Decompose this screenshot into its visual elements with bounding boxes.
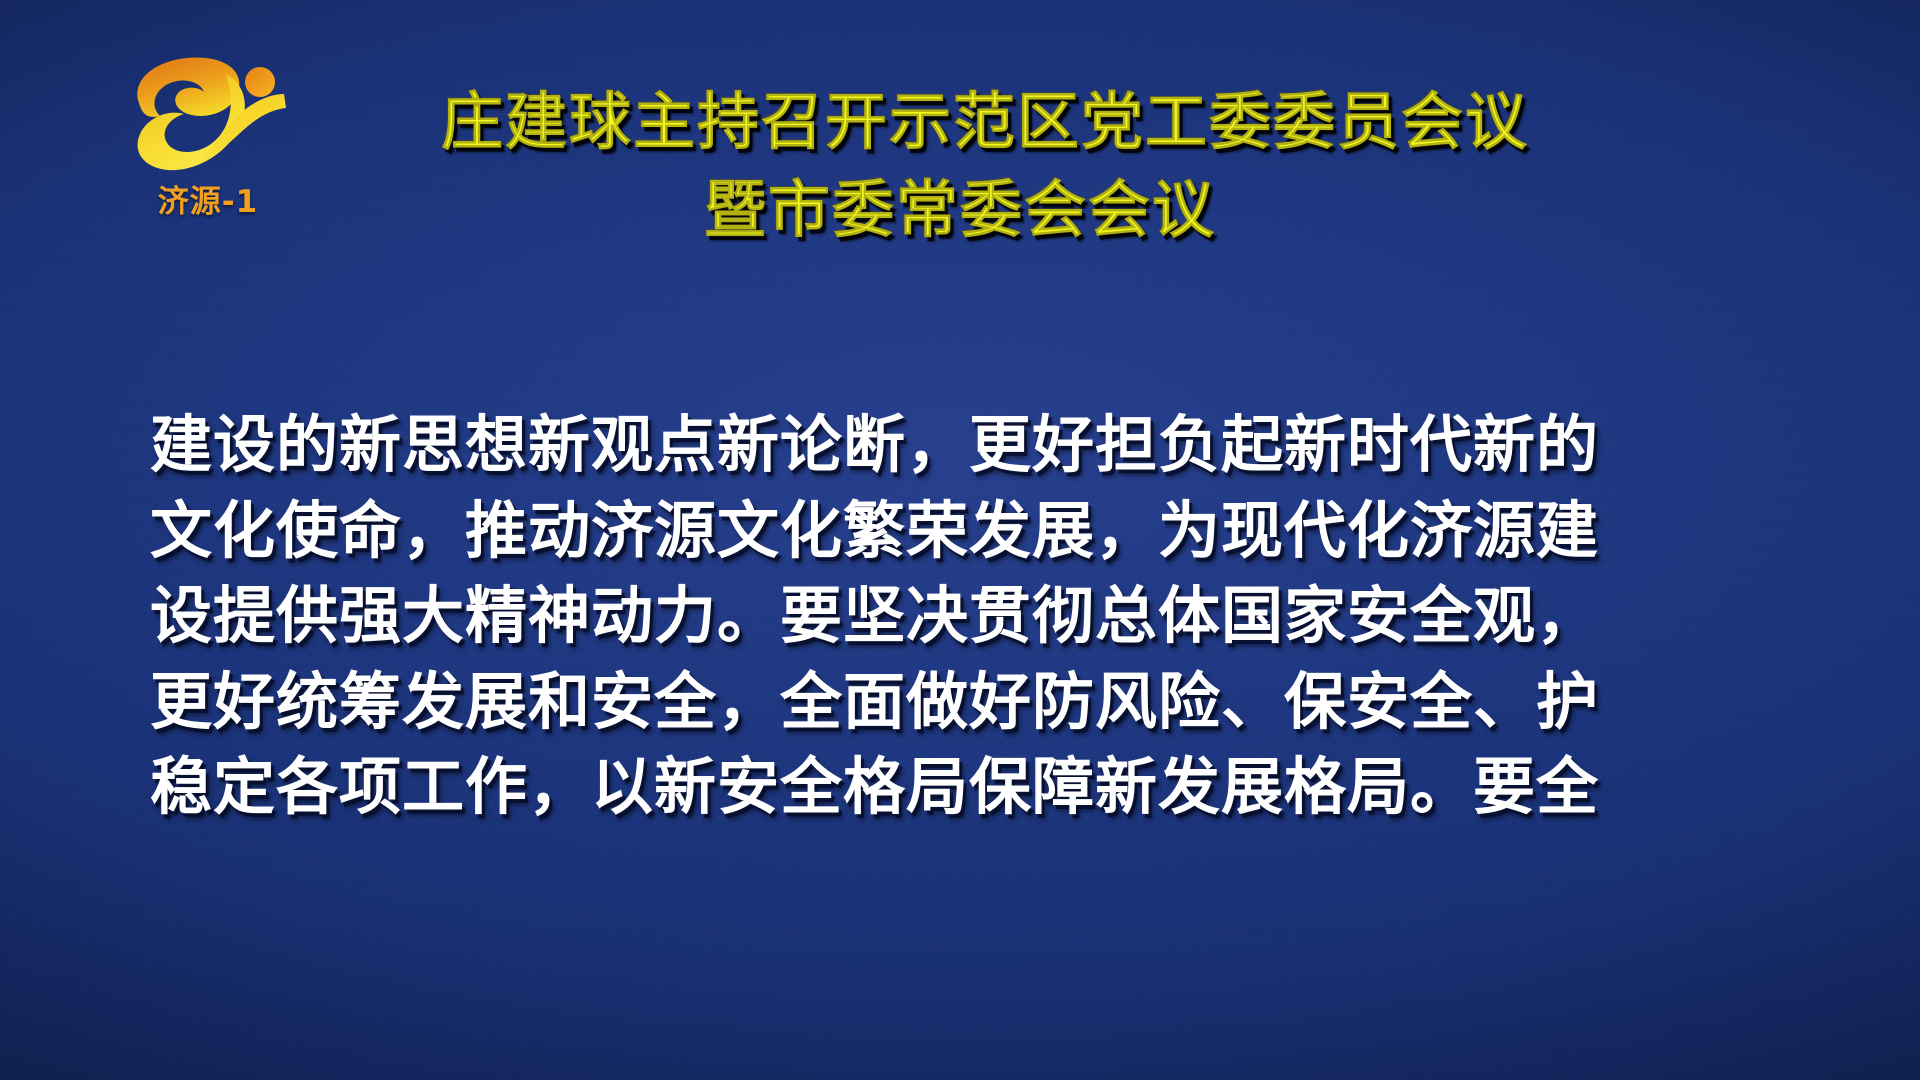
broadcast-screen: 济源-1 庄建球主持召开示范区党工委委员会议 暨市委常委会会议 建设的新思想新观… — [0, 0, 1920, 1080]
caption-line: 稳定各项工作，以新安全格局保障新发展格局。要全 — [150, 744, 1790, 830]
caption-line: 更好统筹发展和安全，全面做好防风险、保安全、护 — [150, 659, 1790, 745]
caption-line: 设提供强大精神动力。要坚决贯彻总体国家安全观， — [150, 573, 1790, 659]
caption-line: 建设的新思想新观点新论断，更好担负起新时代新的 — [150, 402, 1790, 488]
caption-line: 文化使命，推动济源文化繁荣发展，为现代化济源建 — [150, 488, 1790, 574]
headline-block: 庄建球主持召开示范区党工委委员会议 暨市委常委会会议 — [0, 86, 1920, 246]
headline-line-2: 暨市委常委会会议 — [0, 174, 1920, 246]
caption-block: 建设的新思想新观点新论断，更好担负起新时代新的 文化使命，推动济源文化繁荣发展，… — [150, 402, 1790, 830]
headline-line-1: 庄建球主持召开示范区党工委委员会议 — [0, 86, 1920, 158]
